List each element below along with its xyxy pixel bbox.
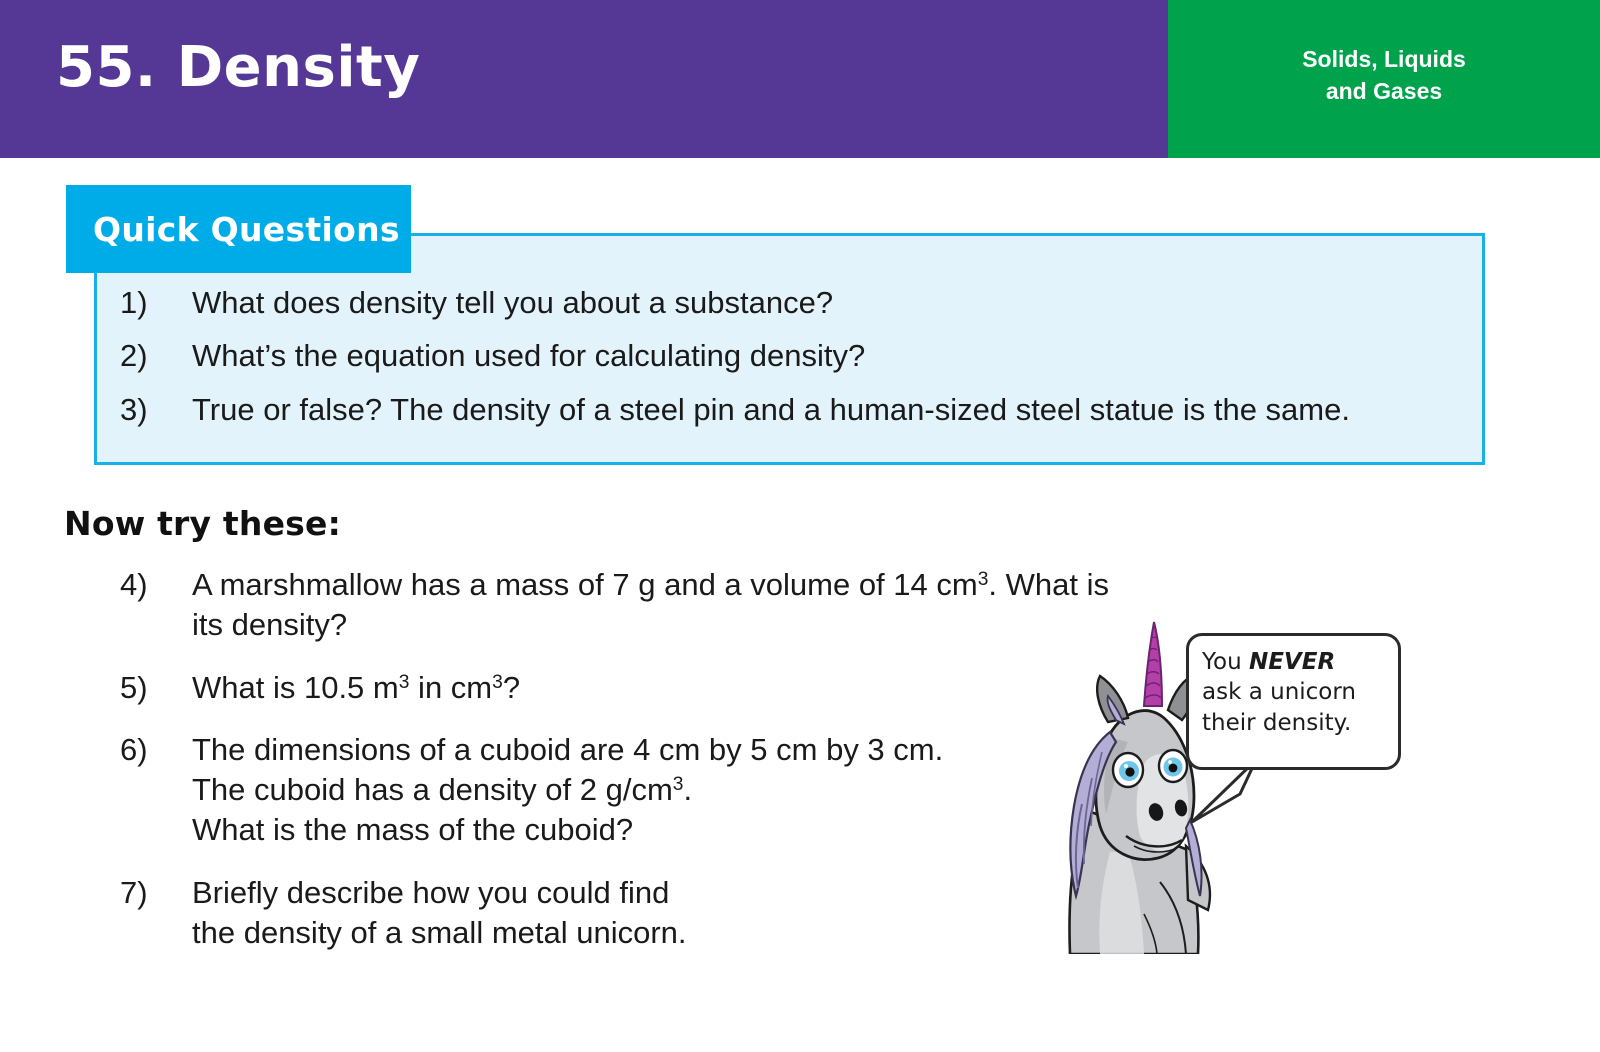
speech-line-3: their density.	[1202, 710, 1351, 736]
question-text: True or false? The density of a steel pi…	[192, 390, 1350, 430]
question-text: Briefly describe how you could find the …	[192, 873, 687, 954]
question-text: A marshmallow has a mass of 7 g and a vo…	[192, 565, 1120, 646]
speech-line-1-emphasis: NEVER	[1249, 649, 1335, 675]
question-number: 3)	[120, 390, 192, 430]
speech-line-2: ask a unicorn	[1202, 679, 1356, 705]
question-text: What is 10.5 m3 in cm3?	[192, 668, 520, 708]
question-number: 7)	[120, 873, 192, 913]
unicorn-eye-left	[1113, 753, 1143, 787]
quick-questions-tab-label: Quick Questions	[66, 185, 411, 273]
question-text: What’s the equation used for calculating…	[192, 336, 865, 376]
now-try-these-heading: Now try these:	[64, 504, 341, 543]
page-header: 55. Density Solids, Liquids and Gases	[0, 0, 1600, 158]
list-item: 5) What is 10.5 m3 in cm3?	[120, 668, 1120, 708]
question-text: The dimensions of a cuboid are 4 cm by 5…	[192, 730, 943, 851]
question-number: 6)	[120, 730, 192, 770]
topic-label: Solids, Liquids and Gases	[1168, 44, 1600, 107]
speech-bubble: You NEVER ask a unicorn their density.	[1186, 633, 1401, 770]
question-text: What does density tell you about a subst…	[192, 283, 833, 323]
question-number: 4)	[120, 565, 192, 605]
list-item: 7) Briefly describe how you could find t…	[120, 873, 1120, 954]
question-number: 1)	[120, 283, 192, 323]
page-title: 55. Density	[56, 40, 420, 96]
list-item: 2) What’s the equation used for calculat…	[120, 336, 1350, 376]
list-item: 6) The dimensions of a cuboid are 4 cm b…	[120, 730, 1120, 851]
question-number: 2)	[120, 336, 192, 376]
unicorn-horn-icon	[1144, 622, 1162, 706]
question-number: 5)	[120, 668, 192, 708]
speech-line-1-plain: You	[1202, 649, 1249, 675]
list-item: 1) What does density tell you about a su…	[120, 283, 1350, 323]
list-item: 3) True or false? The density of a steel…	[120, 390, 1350, 430]
speech-bubble-text: You NEVER ask a unicorn their density.	[1189, 636, 1404, 773]
now-try-these-list: 4) A marshmallow has a mass of 7 g and a…	[120, 565, 1120, 975]
quick-questions-list: 1) What does density tell you about a su…	[120, 283, 1350, 443]
quick-questions-tab: Quick Questions	[66, 185, 411, 273]
list-item: 4) A marshmallow has a mass of 7 g and a…	[120, 565, 1120, 646]
